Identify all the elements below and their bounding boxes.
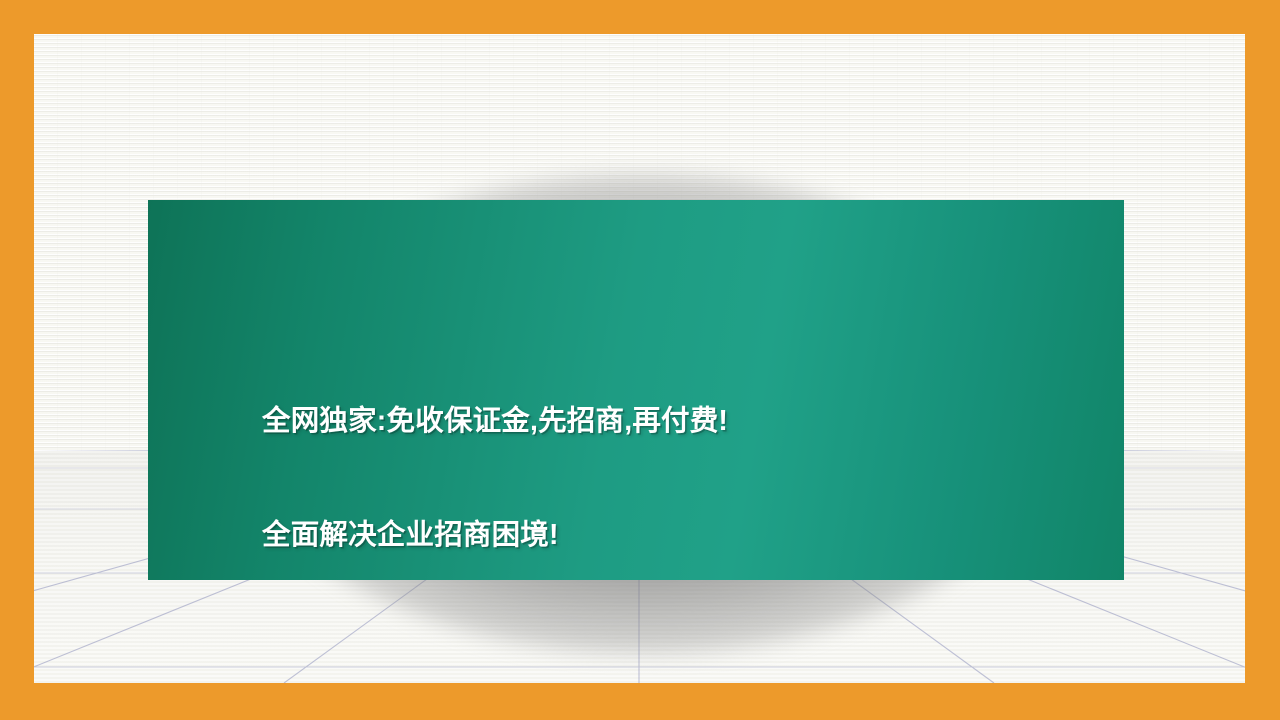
promo-line-1-2: 全面解决企业招商困境! [262,516,1100,554]
promo-panel: 全网独家:免收保证金,先招商,再付费! 全面解决企业招商困境! 合作即签订保障协… [148,200,1124,580]
promo-paragraph-1: 全网独家:免收保证金,先招商,再付费! 全面解决企业招商困境! [262,326,1100,630]
promo-text-block: 全网独家:免收保证金,先招商,再付费! 全面解决企业招商困境! 合作即签订保障协… [262,212,1100,683]
promo-line-1-1: 全网独家:免收保证金,先招商,再付费! [262,402,1100,440]
room-stage: 全网独家:免收保证金,先招商,再付费! 全面解决企业招商困境! 合作即签订保障协… [34,34,1245,683]
slide-canvas: 全网独家:免收保证金,先招商,再付费! 全面解决企业招商困境! 合作即签订保障协… [0,0,1280,720]
